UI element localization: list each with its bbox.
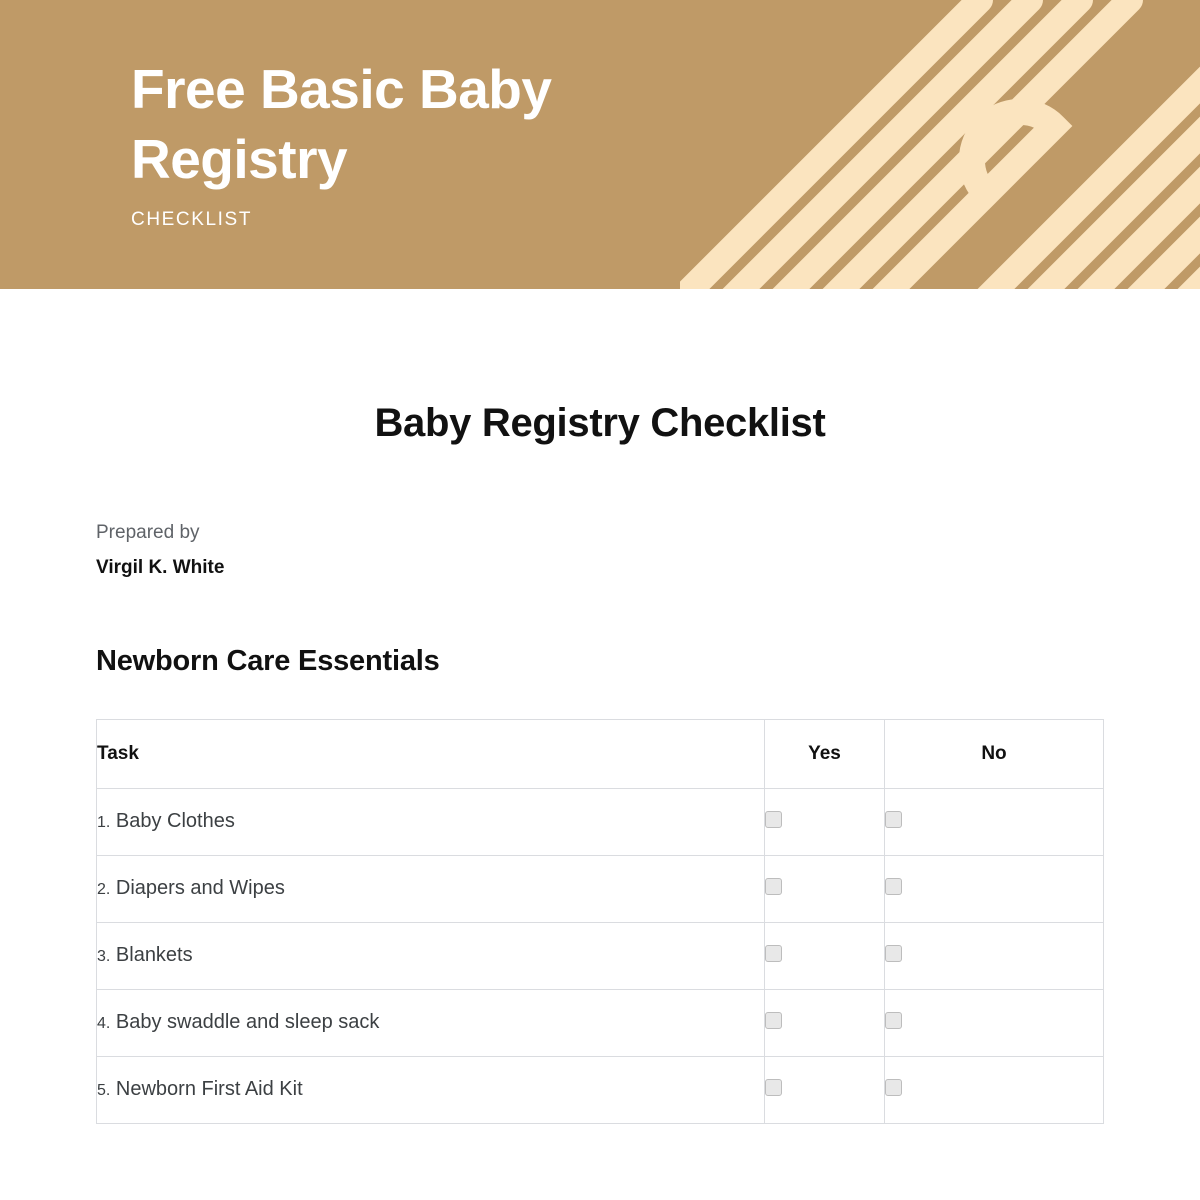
document-body: Baby Registry Checklist Prepared by Virg…: [0, 289, 1200, 1124]
task-cell: 2. Diapers and Wipes: [97, 855, 765, 922]
task-cell: 5. Newborn First Aid Kit: [97, 1056, 765, 1123]
task-cell: 4. Baby swaddle and sleep sack: [97, 989, 765, 1056]
checkbox-yes[interactable]: [765, 945, 782, 962]
checkbox-no[interactable]: [885, 945, 902, 962]
task-label: Blankets: [116, 944, 193, 966]
checkbox-no[interactable]: [885, 878, 902, 895]
no-cell[interactable]: [885, 922, 1104, 989]
checkbox-no[interactable]: [885, 811, 902, 828]
checkbox-yes[interactable]: [765, 878, 782, 895]
page-banner: Free Basic Baby Registry CHECKLIST: [0, 0, 1200, 289]
table-header: Task Yes No: [97, 719, 1104, 788]
page-title: Baby Registry Checklist: [0, 289, 1200, 446]
section-heading: Newborn Care Essentials: [0, 583, 1200, 678]
task-label: Diapers and Wipes: [116, 877, 285, 899]
no-cell[interactable]: [885, 788, 1104, 855]
table-row: 4. Baby swaddle and sleep sack: [97, 989, 1104, 1056]
yes-cell[interactable]: [765, 922, 885, 989]
checklist-table-wrapper: Task Yes No 1. Baby Clothes2. Diapers an…: [0, 678, 1200, 1124]
table-header-row: Task Yes No: [97, 719, 1104, 788]
no-cell[interactable]: [885, 989, 1104, 1056]
task-number: 4.: [97, 1015, 110, 1032]
task-label: Baby swaddle and sleep sack: [116, 1011, 380, 1033]
checklist-table: Task Yes No 1. Baby Clothes2. Diapers an…: [96, 719, 1104, 1124]
column-header-yes: Yes: [765, 719, 885, 788]
banner-text-block: Free Basic Baby Registry CHECKLIST: [131, 54, 651, 231]
banner-subtitle: CHECKLIST: [131, 209, 651, 231]
table-row: 5. Newborn First Aid Kit: [97, 1056, 1104, 1123]
no-cell[interactable]: [885, 855, 1104, 922]
checkbox-no[interactable]: [885, 1012, 902, 1029]
task-label: Baby Clothes: [116, 810, 235, 832]
prepared-by-label: Prepared by: [96, 518, 1200, 547]
task-number: 5.: [97, 1082, 110, 1099]
banner-title: Free Basic Baby Registry: [131, 54, 651, 195]
no-cell[interactable]: [885, 1056, 1104, 1123]
yes-cell[interactable]: [765, 855, 885, 922]
task-label: Newborn First Aid Kit: [116, 1078, 303, 1100]
yes-cell[interactable]: [765, 989, 885, 1056]
table-row: 2. Diapers and Wipes: [97, 855, 1104, 922]
prepared-by-name: Virgil K. White: [96, 553, 1200, 582]
checkbox-yes[interactable]: [765, 1012, 782, 1029]
yes-cell[interactable]: [765, 1056, 885, 1123]
table-row: 3. Blankets: [97, 922, 1104, 989]
task-number: 1.: [97, 814, 110, 831]
diagonal-stripes-loop-icon: [680, 0, 1200, 289]
checkbox-no[interactable]: [885, 1079, 902, 1096]
task-cell: 3. Blankets: [97, 922, 765, 989]
checkbox-yes[interactable]: [765, 1079, 782, 1096]
column-header-no: No: [885, 719, 1104, 788]
table-body: 1. Baby Clothes2. Diapers and Wipes3. Bl…: [97, 788, 1104, 1123]
task-number: 3.: [97, 948, 110, 965]
yes-cell[interactable]: [765, 788, 885, 855]
table-row: 1. Baby Clothes: [97, 788, 1104, 855]
column-header-task: Task: [97, 719, 765, 788]
prepared-by-block: Prepared by Virgil K. White: [0, 518, 1200, 583]
checkbox-yes[interactable]: [765, 811, 782, 828]
task-number: 2.: [97, 881, 110, 898]
task-cell: 1. Baby Clothes: [97, 788, 765, 855]
